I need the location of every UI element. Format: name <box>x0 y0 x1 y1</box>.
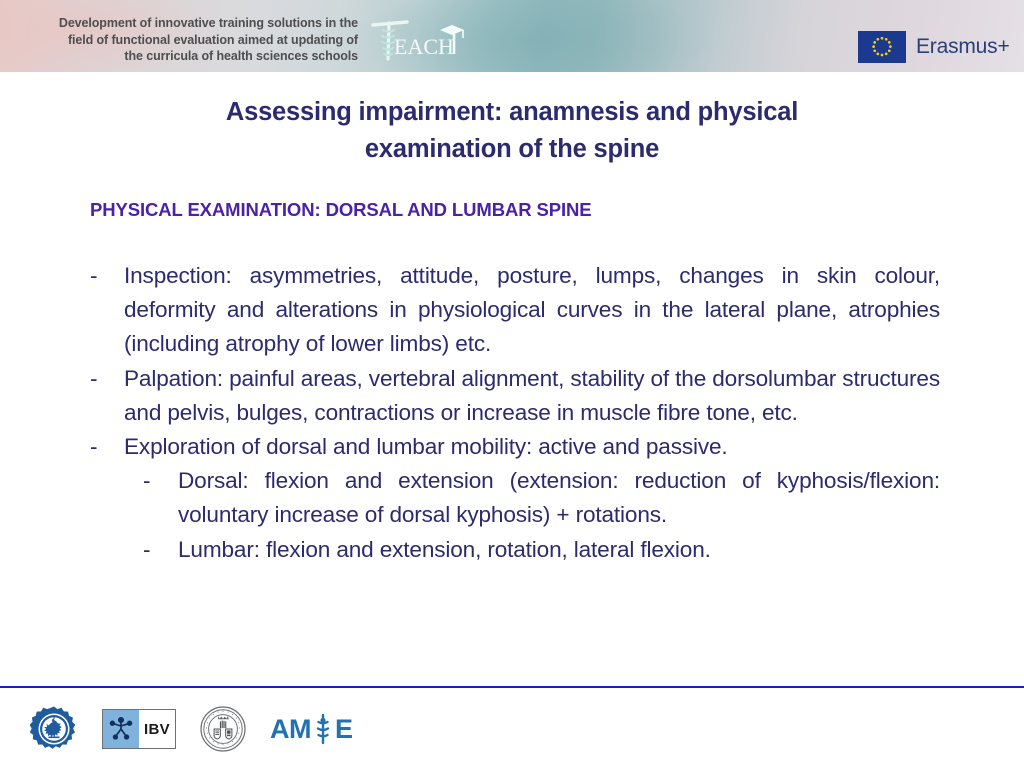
bullet-dash-icon: - <box>143 533 178 567</box>
list-item-text: Inspection: asymmetries, attitude, postu… <box>124 259 940 362</box>
ibv-label: IBV <box>139 710 175 748</box>
ibv-biomechanics-icon <box>109 716 133 742</box>
page-title-line-1: Assessing impairment: anamnesis and phys… <box>112 94 912 131</box>
bullet-dash-icon: - <box>143 464 178 498</box>
footer-divider <box>0 686 1024 688</box>
amse-suffix-label: E <box>335 714 353 745</box>
sub-list-item-text: Lumbar: flexion and extension, rotation,… <box>178 533 940 567</box>
sub-list-item: - Lumbar: flexion and extension, rotatio… <box>90 533 940 567</box>
list-item: - Exploration of dorsal and lumbar mobil… <box>90 430 940 464</box>
sub-list-item-text: Dorsal: flexion and extension (extension… <box>178 464 940 532</box>
eu-flag-icon <box>858 31 906 63</box>
program-description-line-2: field of functional evaluation aimed at … <box>28 32 358 49</box>
list-item: - Palpation: painful areas, vertebral al… <box>90 362 940 430</box>
page-title: Assessing impairment: anamnesis and phys… <box>112 94 912 168</box>
content-body: - Inspection: asymmetries, attitude, pos… <box>90 259 940 567</box>
header-banner: Development of innovative training solut… <box>0 0 1024 72</box>
bullet-dash-icon: - <box>90 430 124 464</box>
section-subtitle: PHYSICAL EXAMINATION: DORSAL AND LUMBAR … <box>90 199 592 221</box>
amse-logo: AM E <box>270 712 353 746</box>
program-description-line-1: Development of innovative training solut… <box>28 15 358 32</box>
sub-list-item: - Dorsal: flexion and extension (extensi… <box>90 464 940 532</box>
eu-stars-icon <box>858 31 906 63</box>
erasmus-plus-logo: Erasmus+ <box>858 30 1010 64</box>
list-item: - Inspection: asymmetries, attitude, pos… <box>90 259 940 362</box>
ibv-mark-icon <box>103 710 139 748</box>
asclepius-rod-icon <box>312 712 334 746</box>
gear-emblem-logo-icon <box>30 705 78 753</box>
list-item-text: Palpation: painful areas, vertebral alig… <box>124 362 940 430</box>
svg-text:EACH: EACH <box>394 34 454 59</box>
bullet-dash-icon: - <box>90 259 124 293</box>
bullet-dash-icon: - <box>90 362 124 396</box>
teach-logo: EACH <box>366 14 466 66</box>
footer-logo-strip: IBV <box>30 700 353 758</box>
program-description: Development of innovative training solut… <box>28 15 358 65</box>
teach-logo-icon: EACH <box>366 14 466 66</box>
erasmus-plus-label: Erasmus+ <box>916 35 1010 59</box>
list-item-text: Exploration of dorsal and lumbar mobilit… <box>124 430 940 464</box>
amse-prefix-label: AM <box>270 714 311 745</box>
ibv-logo: IBV <box>102 709 176 749</box>
page-title-line-2: examination of the spine <box>112 131 912 168</box>
program-description-line-3: the curricula of health sciences schools <box>28 48 358 65</box>
university-seal-logo-icon <box>200 706 246 752</box>
